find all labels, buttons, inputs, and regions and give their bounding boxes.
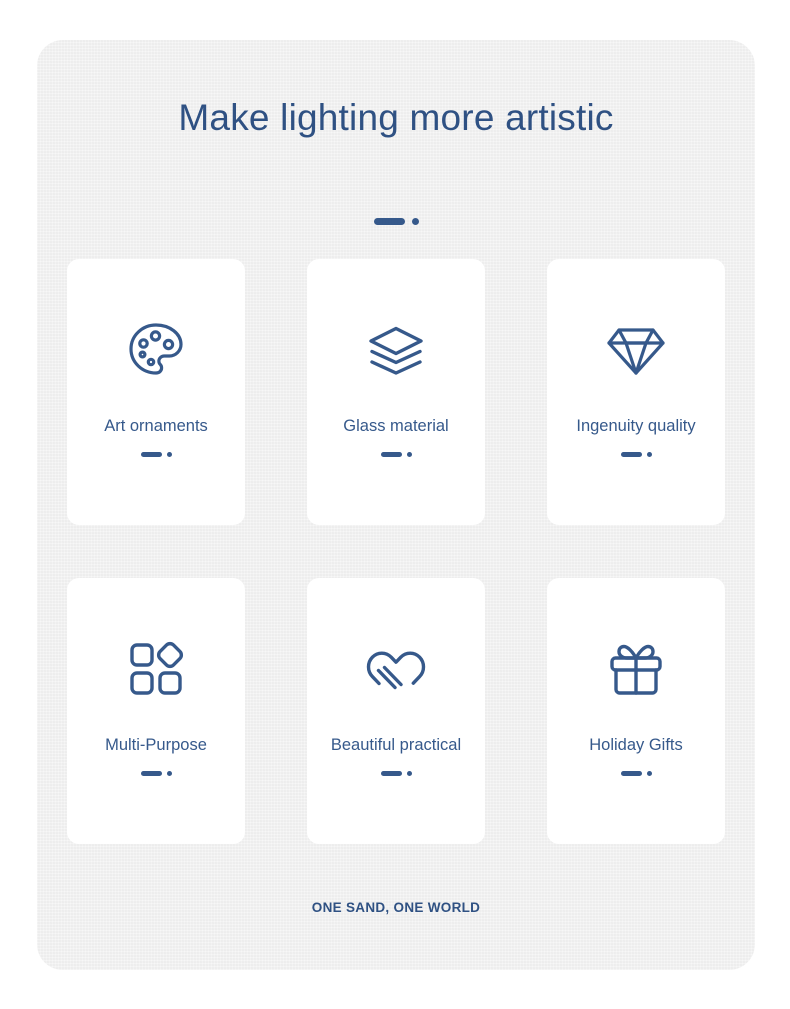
card-divider [621, 452, 652, 457]
feature-card-beautiful-practical[interactable]: Beautiful practical [307, 578, 485, 844]
gift-icon [602, 635, 670, 703]
feature-card-holiday-gifts[interactable]: Holiday Gifts [547, 578, 725, 844]
divider-dash [141, 452, 162, 457]
footer-tagline: ONE SAND, ONE WORLD [37, 900, 755, 915]
feature-card-grid: Art ornaments Glass material [67, 259, 725, 844]
feature-card-glass-material[interactable]: Glass material [307, 259, 485, 525]
feature-label: Multi-Purpose [105, 736, 207, 756]
divider-dot [647, 771, 652, 776]
divider-dash [381, 771, 402, 776]
divider-dash [621, 771, 642, 776]
feature-card-art-ornaments[interactable]: Art ornaments [67, 259, 245, 525]
diamond-icon [602, 316, 670, 384]
divider-dash [621, 452, 642, 457]
divider-dot [647, 452, 652, 457]
divider-dash [374, 218, 405, 225]
title-divider [37, 218, 755, 225]
divider-dot [407, 452, 412, 457]
divider-dot [407, 771, 412, 776]
divider-dash [381, 452, 402, 457]
page-title: Make lighting more artistic [37, 98, 755, 139]
layers-icon [362, 316, 430, 384]
feature-label: Ingenuity quality [576, 417, 695, 437]
divider-dash [141, 771, 162, 776]
feature-label: Holiday Gifts [589, 736, 683, 756]
feature-panel: Make lighting more artistic Art ornament… [37, 40, 755, 970]
heart-icon [362, 635, 430, 703]
feature-label: Beautiful practical [331, 736, 461, 756]
divider-dot [167, 452, 172, 457]
divider-dot [167, 771, 172, 776]
feature-label: Art ornaments [104, 417, 208, 437]
card-divider [141, 452, 172, 457]
card-divider [381, 771, 412, 776]
grid-shapes-icon [122, 635, 190, 703]
feature-card-multi-purpose[interactable]: Multi-Purpose [67, 578, 245, 844]
divider-dot [412, 218, 419, 225]
feature-label: Glass material [343, 417, 448, 437]
card-divider [621, 771, 652, 776]
card-divider [141, 771, 172, 776]
feature-card-ingenuity-quality[interactable]: Ingenuity quality [547, 259, 725, 525]
palette-icon [122, 316, 190, 384]
card-divider [381, 452, 412, 457]
